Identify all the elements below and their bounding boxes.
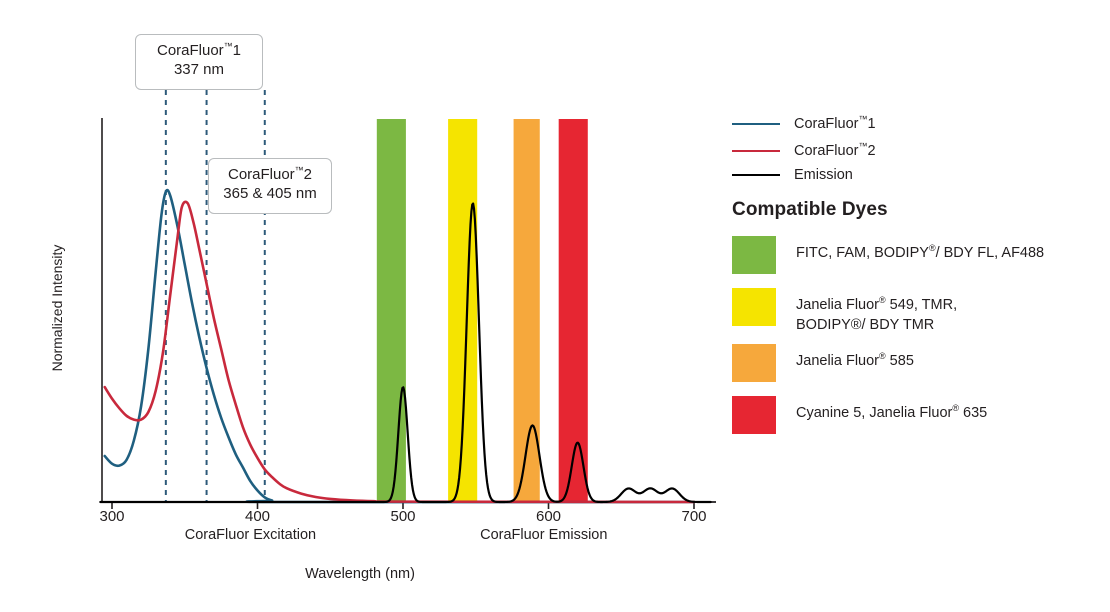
callout-corafluor1-name: CoraFluor [157,42,224,59]
dye-row-1[interactable]: FITC, FAM, BODIPY®/ BDY FL, AF488 [732,236,1044,274]
x-tick-label-500: 500 [373,508,433,525]
trademark-icon: ™ [858,114,867,124]
dye-color-swatch [732,396,776,434]
filter-band-0 [377,119,406,502]
dye-label-line1: FITC, FAM, BODIPY®/ BDY FL, AF488 [796,245,1044,261]
figure-root: CoraFluor™1 337 nm CoraFluor™2 365 & 405… [0,0,1110,612]
trademark-icon: ™ [295,165,304,175]
dye-label-line2: BODIPY®/ BDY TMR [796,316,957,336]
dye-label-line1: Janelia Fluor® 549, TMR, [796,297,957,313]
callout-corafluor2-wavelength: 365 & 405 nm [221,185,319,204]
x-tick-label-600: 600 [519,508,579,525]
x-tick-label-700: 700 [664,508,724,525]
registered-icon: ® [879,295,886,305]
callout-corafluor2-index: 2 [304,166,312,183]
x-tick-label-400: 400 [228,508,288,525]
callout-corafluor2: CoraFluor™2 365 & 405 nm [208,158,332,214]
y-axis-title: Normalized Intensity [49,223,65,393]
dye-label: Janelia Fluor® 585 [796,344,914,372]
dye-color-swatch [732,288,776,326]
callout-corafluor1: CoraFluor™1 337 nm [135,34,263,90]
dye-color-swatch [732,344,776,382]
callout-corafluor2-name: CoraFluor [228,166,295,183]
callout-corafluor1-index: 1 [233,42,241,59]
legend-line-swatch [732,174,780,176]
legend-series-label: Emission [794,167,853,183]
dye-label: Cyanine 5, Janelia Fluor® 635 [796,396,987,424]
dye-label-line1: Cyanine 5, Janelia Fluor® 635 [796,405,987,421]
x-tick-label-300: 300 [82,508,142,525]
registered-icon: ® [879,351,886,361]
legend-series-row-2[interactable]: CoraFluor™2 [732,142,876,160]
dye-label: FITC, FAM, BODIPY®/ BDY FL, AF488 [796,236,1044,264]
filter-band-3 [559,119,588,502]
legend-line-swatch [732,150,780,152]
registered-icon: ® [952,403,959,413]
dye-row-3[interactable]: Janelia Fluor® 585 [732,344,914,382]
callout-corafluor2-line1: CoraFluor™2 [221,166,319,185]
dye-row-2[interactable]: Janelia Fluor® 549, TMR,BODIPY®/ BDY TMR [732,288,957,335]
legend-line-swatch [732,123,780,125]
excitation-marker-lines [166,90,265,502]
callout-corafluor1-line1: CoraFluor™1 [148,42,250,61]
legend-series-label: CoraFluor™1 [794,116,876,132]
trademark-icon: ™ [224,41,233,51]
trademark-icon: ™ [858,141,867,151]
chart-panel: CoraFluor™1 337 nm CoraFluor™2 365 & 405… [0,0,720,612]
dye-label: Janelia Fluor® 549, TMR,BODIPY®/ BDY TMR [796,288,957,335]
legend-series-row-3[interactable]: Emission [732,166,853,184]
callout-corafluor1-wavelength: 337 nm [148,61,250,80]
dye-color-swatch [732,236,776,274]
legend-panel: CoraFluor™1CoraFluor™2Emission Compatibl… [726,0,1110,612]
dye-row-4[interactable]: Cyanine 5, Janelia Fluor® 635 [732,396,987,434]
dye-label-line1: Janelia Fluor® 585 [796,353,914,369]
legend-series-label: CoraFluor™2 [794,143,876,159]
registered-icon: ® [929,243,936,253]
compatible-dyes-heading: Compatible Dyes [732,199,888,221]
legend-series-row-1[interactable]: CoraFluor™1 [732,115,876,133]
x-axis-title: Wavelength (nm) [0,566,720,582]
